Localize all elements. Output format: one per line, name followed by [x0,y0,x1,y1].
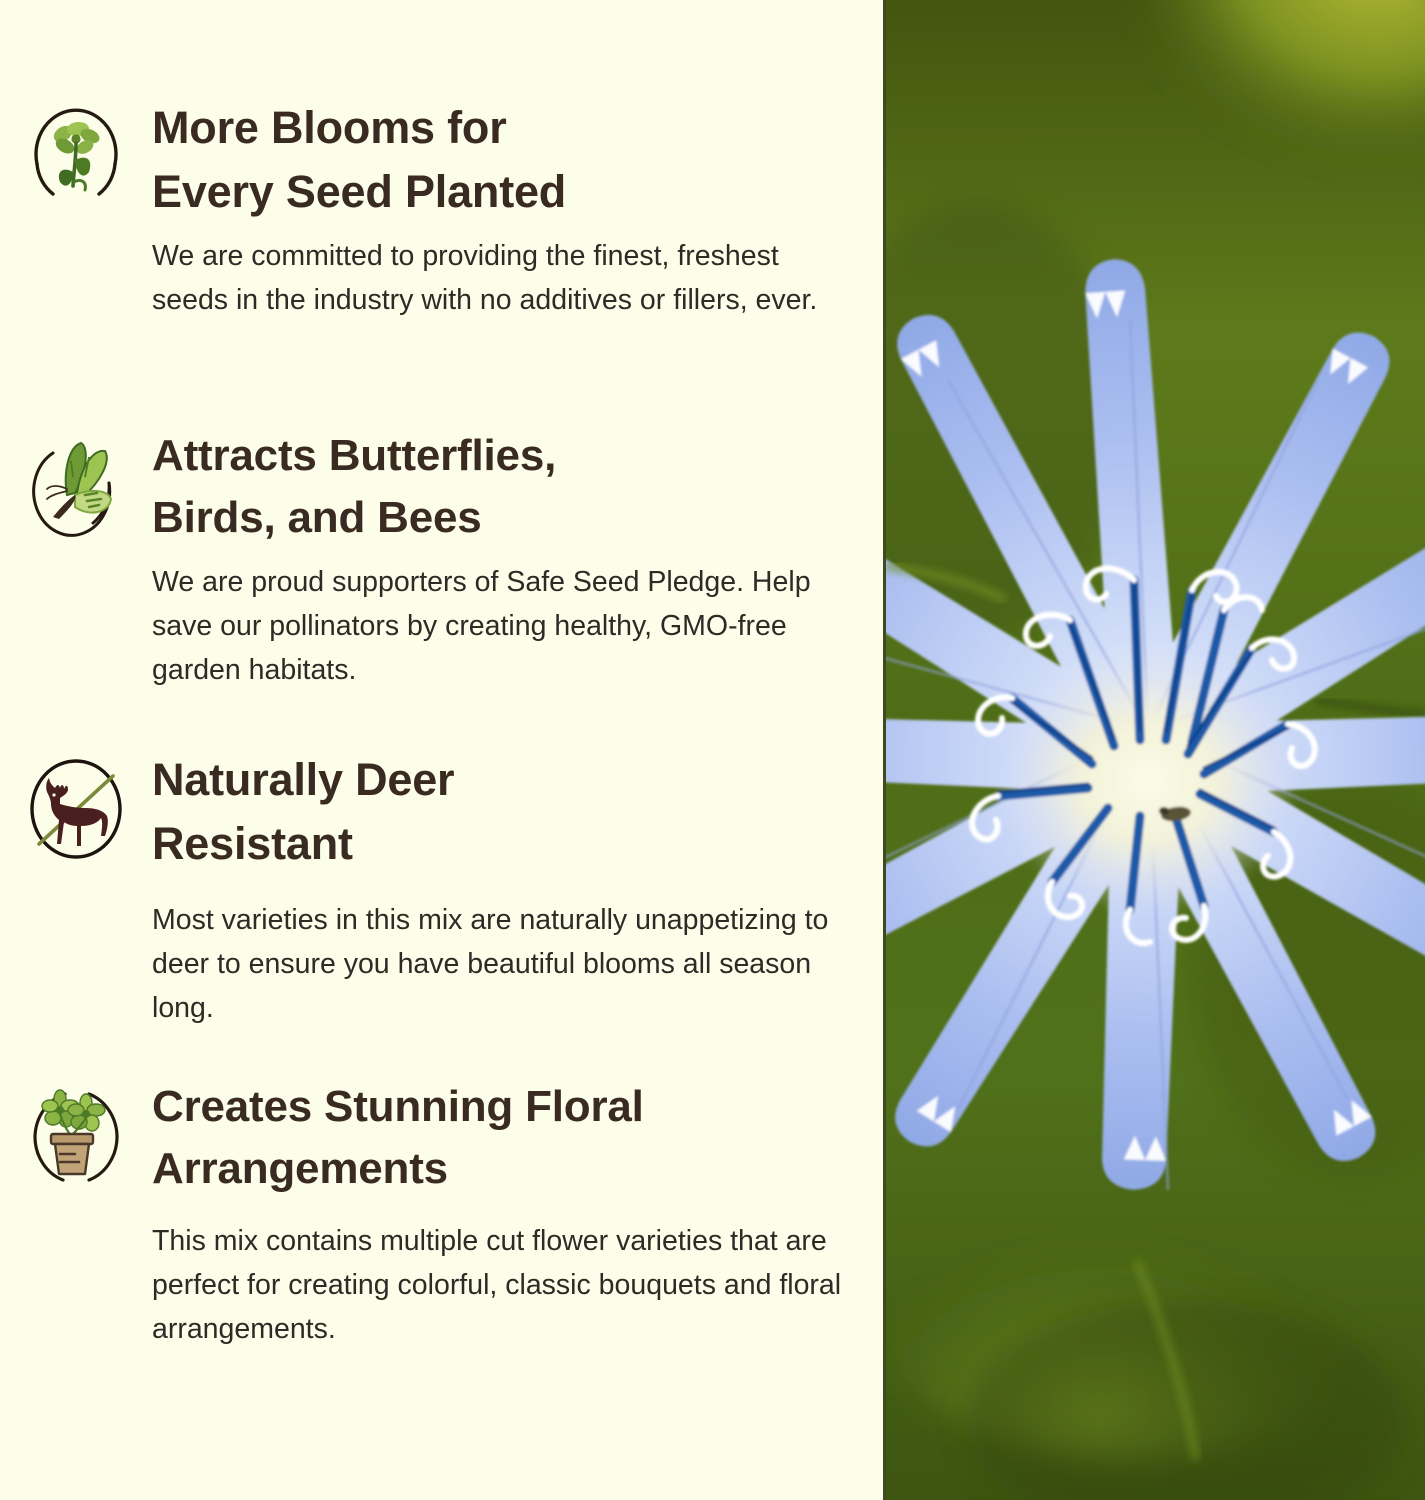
potted-flowers-icon [23,1082,129,1194]
feature-body: We are committed to providing the finest… [152,234,846,322]
features-panel: More Blooms for Every Seed Planted We ar… [0,0,886,1500]
feature-icon-wrapper [0,96,152,208]
feature-title: Attracts Butterflies, Birds, and Bees [152,425,846,550]
feature-text: More Blooms for Every Seed Planted We ar… [152,96,886,322]
feature-title: Naturally Deer Resistant [152,748,846,876]
feature-icon-wrapper [0,425,152,541]
feature-item-attracts-pollinators: Attracts Butterflies, Birds, and Bees We… [0,425,886,692]
butterfly-icon [23,431,129,541]
feature-body: Most varieties in this mix are naturally… [152,898,846,1031]
feature-text: Creates Stunning Floral Arrangements Thi… [152,1076,886,1351]
feature-title: More Blooms for Every Seed Planted [152,96,846,224]
feature-body: We are proud supporters of Safe Seed Ple… [152,560,846,693]
feature-text: Attracts Butterflies, Birds, and Bees We… [152,425,886,692]
feature-panel-page: More Blooms for Every Seed Planted We ar… [0,0,1425,1500]
feature-icon-wrapper [0,1076,152,1194]
feature-item-more-blooms: More Blooms for Every Seed Planted We ar… [0,96,886,322]
chicory-flower-photo [886,0,1425,1500]
feature-icon-wrapper [0,748,152,864]
feature-item-deer-resistant: Naturally Deer Resistant Most varieties … [0,748,886,1030]
flower-photo-svg [886,0,1425,1500]
feature-title: Creates Stunning Floral Arrangements [152,1076,846,1201]
feature-text: Naturally Deer Resistant Most varieties … [152,748,886,1030]
flower-sprout-icon [23,102,129,208]
no-deer-icon [23,754,129,864]
feature-item-floral-arrangements: Creates Stunning Floral Arrangements Thi… [0,1076,886,1351]
feature-body: This mix contains multiple cut flower va… [152,1219,846,1352]
